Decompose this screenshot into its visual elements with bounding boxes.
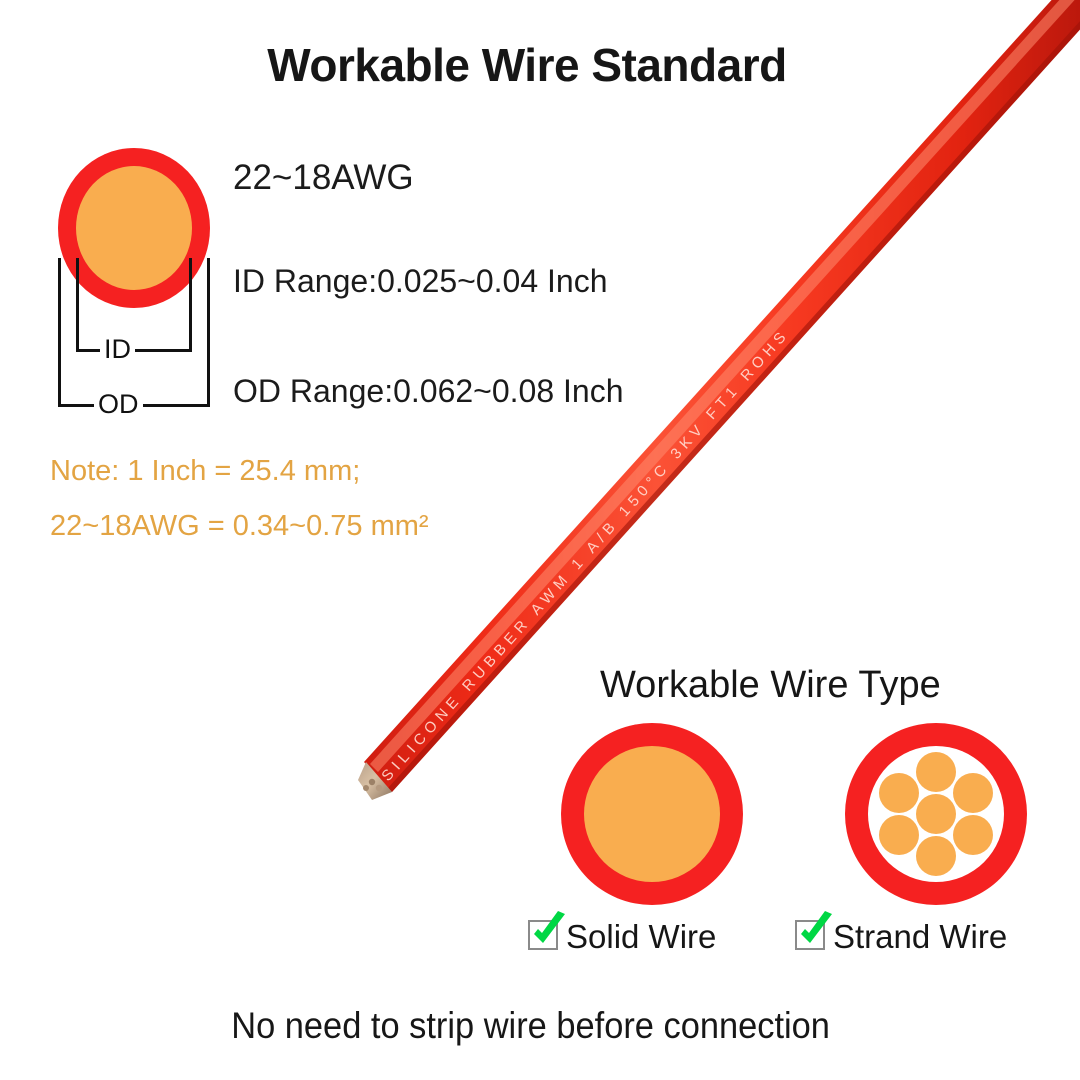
strand-bottom — [916, 836, 956, 876]
strand-wire-cavity — [868, 746, 1004, 882]
note-line-1: Note: 1 Inch = 25.4 mm; — [50, 455, 360, 488]
infographic-canvas: Workable Wire Standard — [0, 0, 1080, 1080]
strand-center — [916, 794, 956, 834]
od-extension-line-right — [207, 258, 210, 406]
note-line-2: 22~18AWG = 0.34~0.75 mm² — [50, 510, 429, 543]
od-extension-line-left — [58, 258, 61, 406]
checkbox-row-strand-wire[interactable]: Strand Wire — [795, 918, 1007, 956]
id-label: ID — [100, 336, 135, 363]
od-endcap-left — [58, 393, 61, 407]
checkbox-row-solid-wire[interactable]: Solid Wire — [528, 918, 716, 956]
conductor-core — [76, 166, 192, 290]
wire-cross-section-diagram: ID OD — [52, 148, 220, 418]
strand-wire-label: Strand Wire — [833, 918, 1007, 956]
id-endcap-left — [76, 338, 79, 352]
id-endcap-right — [189, 338, 192, 352]
solid-wire-label: Solid Wire — [566, 918, 716, 956]
strand-top — [916, 752, 956, 792]
strand-upper-right — [953, 773, 993, 813]
od-endcap-right — [207, 393, 210, 407]
spec-id-range: ID Range:0.025~0.04 Inch — [233, 263, 608, 300]
footer-note-text: No need to strip wire before connection — [231, 1005, 830, 1047]
strand-lower-right — [953, 815, 993, 855]
od-label: OD — [94, 391, 143, 418]
footer-note: No need to strip wire before connection — [0, 1005, 1080, 1047]
solid-wire-conductor — [584, 746, 720, 882]
strand-lower-left — [879, 815, 919, 855]
spec-awg-range: 22~18AWG — [233, 158, 414, 198]
solid-wire-checkbox[interactable] — [528, 920, 562, 954]
spec-od-range: OD Range:0.062~0.08 Inch — [233, 373, 624, 410]
wire-type-title: Workable Wire Type — [600, 664, 1000, 707]
checkmark-icon — [794, 910, 838, 954]
checkmark-icon — [527, 910, 571, 954]
strand-wire-checkbox[interactable] — [795, 920, 829, 954]
strand-upper-left — [879, 773, 919, 813]
